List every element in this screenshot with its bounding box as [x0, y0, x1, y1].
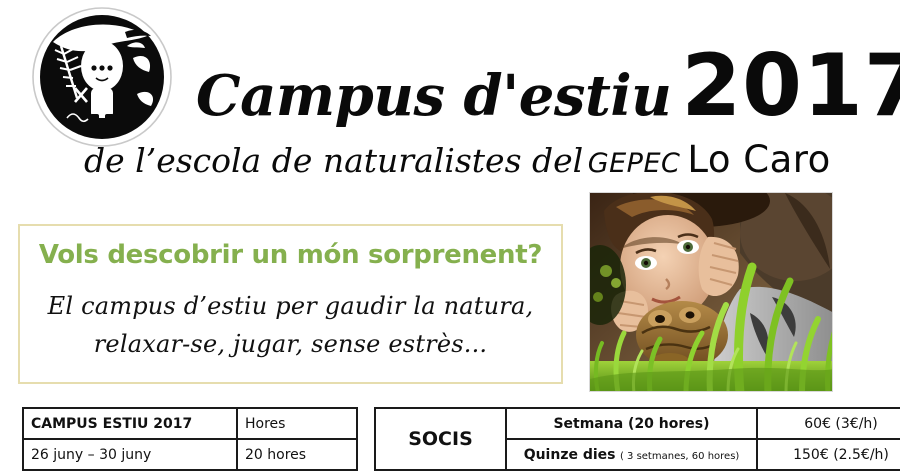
price-desc-week-main: Setmana (20 hores) — [553, 416, 709, 432]
schedule-cell-hours-header: Hores — [237, 408, 357, 439]
table-row: SOCIS Setmana (20 hores) 60€ (3€/h) — [375, 408, 900, 439]
subtitle-locaro-text: Lo Caro — [687, 138, 830, 181]
price-value-fortnight: 150€ (2.5€/h) — [757, 439, 900, 470]
schedule-cell-hours: 20 hores — [237, 439, 357, 470]
subtitle-script-text: de l’escola de naturalistes del — [84, 141, 583, 180]
price-category-socis: SOCIS — [375, 408, 506, 470]
callout-line-1: El campus d’estiu per gaudir la natura, — [20, 292, 561, 320]
callout-headline: Vols descobrir un món sorprenent? — [20, 240, 561, 270]
price-desc-fortnight-main: Quinze dies — [524, 447, 616, 463]
title-script-text: Campus d'estiu — [196, 63, 671, 129]
table-row: 26 juny – 30 juny 20 hores — [23, 439, 357, 470]
page-subtitle: de l’escola de naturalistes del GEPECLo … — [84, 138, 900, 182]
gepec-logo-icon — [31, 6, 173, 148]
price-table: SOCIS Setmana (20 hores) 60€ (3€/h) Quin… — [374, 407, 900, 471]
subtitle-gepec-text: GEPEC — [588, 148, 681, 179]
price-desc-fortnight-note: ( 3 setmanes, 60 hores) — [620, 451, 739, 462]
price-desc-week: Setmana (20 hores) — [506, 408, 757, 439]
schedule-cell-dates: 26 juny – 30 juny — [23, 439, 237, 470]
price-desc-fortnight: Quinze dies ( 3 setmanes, 60 hores) — [506, 439, 757, 470]
table-row: CAMPUS ESTIU 2017 Hores — [23, 408, 357, 439]
price-value-week: 60€ (3€/h) — [757, 408, 900, 439]
schedule-cell-label: CAMPUS ESTIU 2017 — [23, 408, 237, 439]
poster-header: Campus d'estiu2017 de l’escola de natura… — [0, 0, 900, 190]
callout-line-2: relaxar-se, jugar, sense estrès... — [20, 330, 561, 358]
schedule-table: CAMPUS ESTIU 2017 Hores 26 juny – 30 jun… — [22, 407, 358, 471]
title-year-text: 2017 — [681, 36, 900, 136]
callout-box: Vols descobrir un món sorprenent? El cam… — [18, 224, 563, 384]
page-title: Campus d'estiu2017 — [196, 36, 896, 136]
photo-boy-with-frog — [589, 192, 833, 392]
